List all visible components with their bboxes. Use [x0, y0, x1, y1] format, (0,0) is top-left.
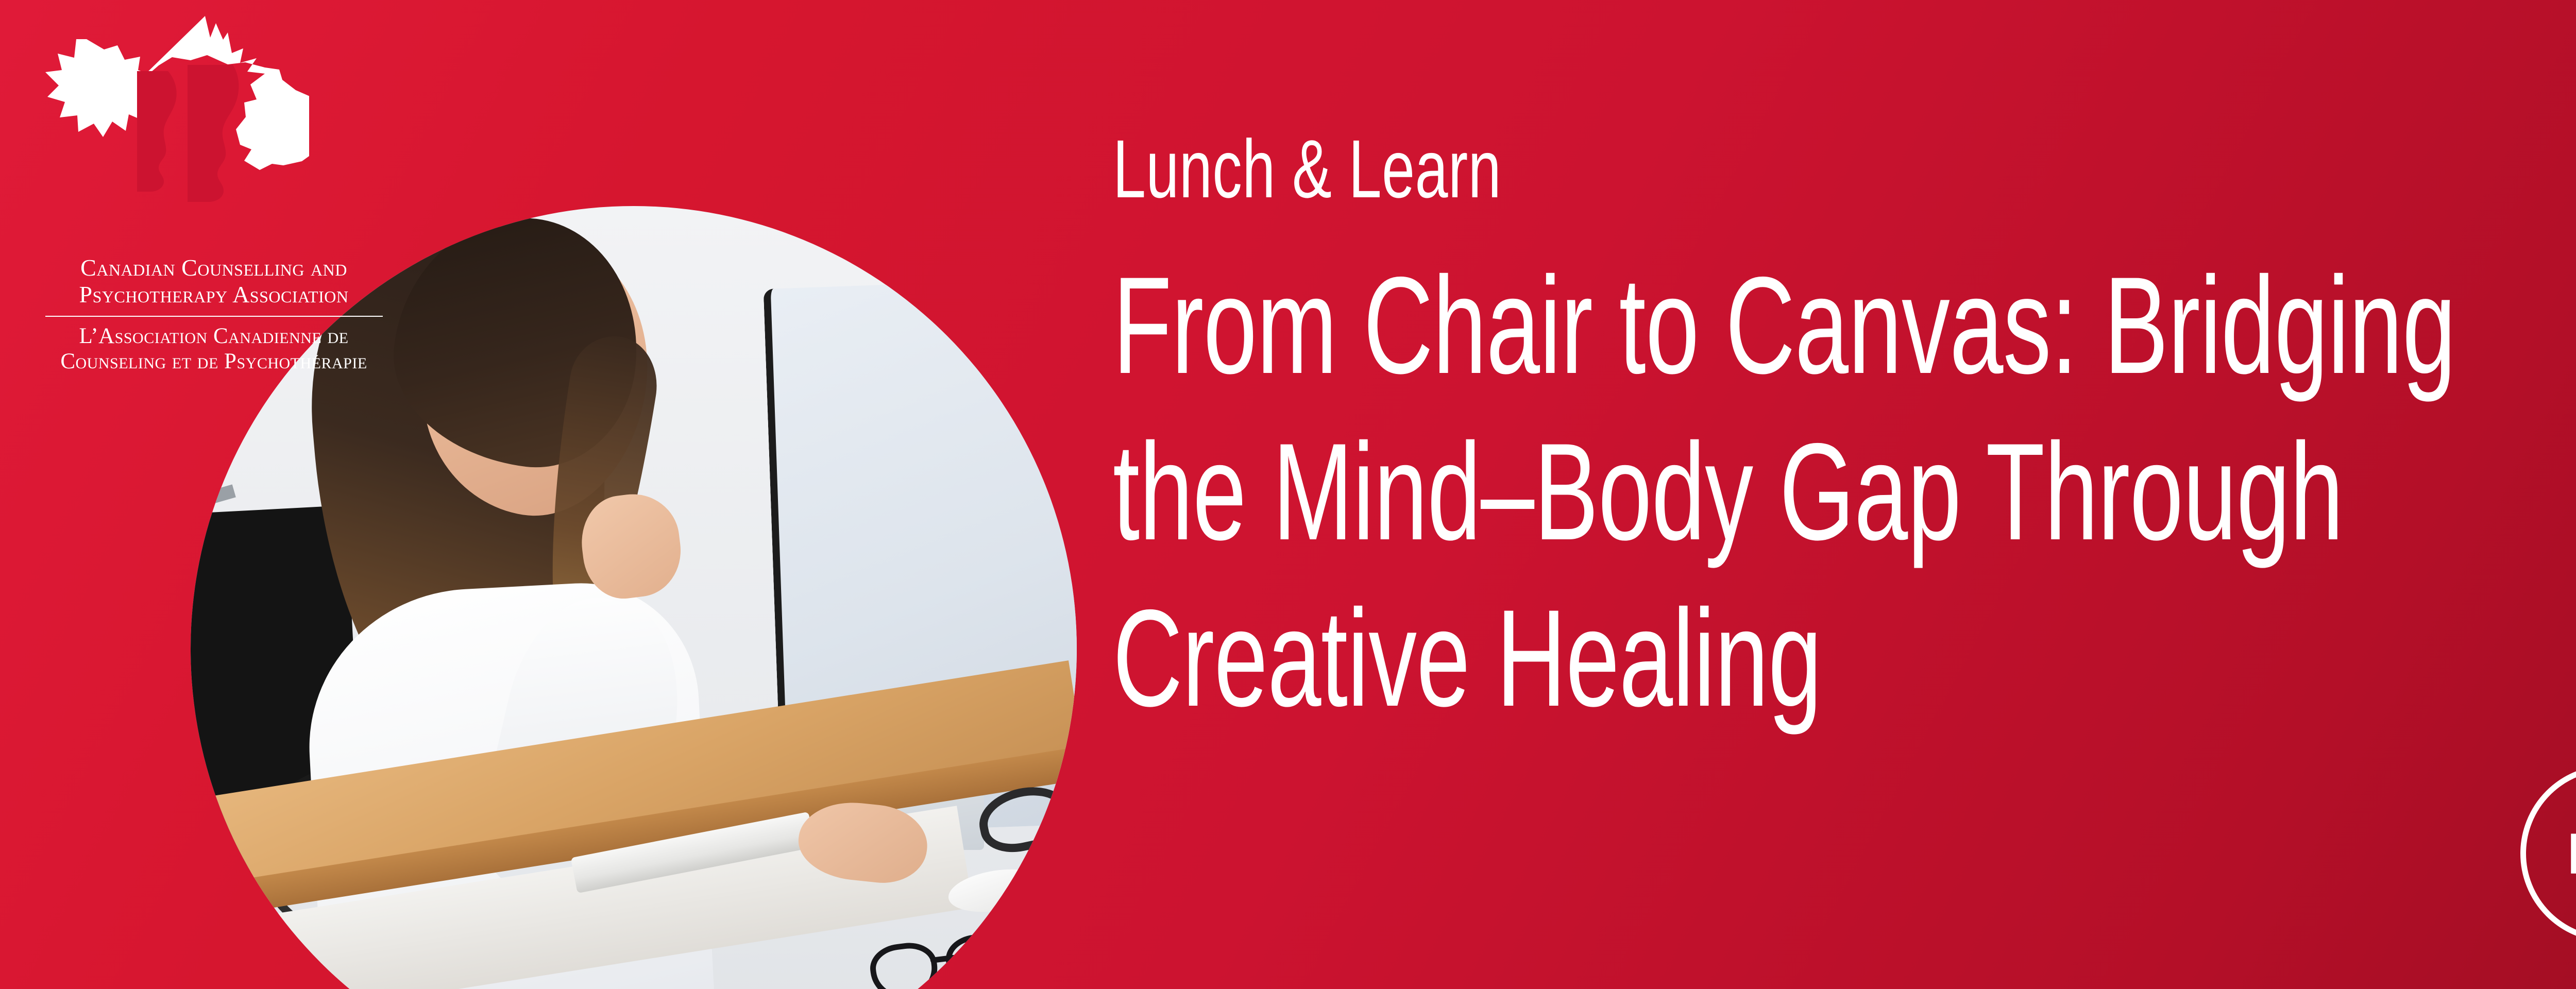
- ccpa-name-en-line2: Psychotherapy Association: [36, 281, 392, 308]
- eyeglasses-left-lens: [868, 940, 941, 989]
- headline-line-1: From Chair to Canvas: Bridging: [1113, 242, 2455, 408]
- ccpa-logo-text: Canadian Counselling and Psychotherapy A…: [36, 254, 392, 374]
- ccpa-name-en-line1: Canadian Counselling and: [36, 254, 392, 281]
- ccpa-logo[interactable]: Canadian Counselling and Psychotherapy A…: [36, 9, 397, 374]
- event-promo-banner: Canadian Counselling and Psychotherapy A…: [0, 0, 2576, 989]
- ccpa-logo-divider: [45, 316, 383, 317]
- ccpa-name-fr-line2: Counseling et de Psychothérapie: [36, 349, 392, 374]
- register-now-label: REGISTER NOW: [2568, 771, 2576, 936]
- eyeglasses-right-lens: [943, 930, 1016, 989]
- maple-leaf-two-faces-mark: [41, 9, 309, 251]
- eyebrow-label: Lunch & Learn: [1113, 128, 1501, 210]
- headline-line-3: Creative Healing: [1113, 575, 2455, 741]
- page-title: From Chair to Canvas: Bridging the Mind–…: [1113, 242, 2455, 741]
- eyeglasses-icon: [868, 928, 1039, 989]
- ccpa-name-fr-line1: L’Association Canadienne de: [36, 323, 392, 349]
- headline-line-2: the Mind–Body Gap Through: [1113, 408, 2455, 575]
- register-now-button[interactable]: REGISTER NOW: [2520, 765, 2576, 942]
